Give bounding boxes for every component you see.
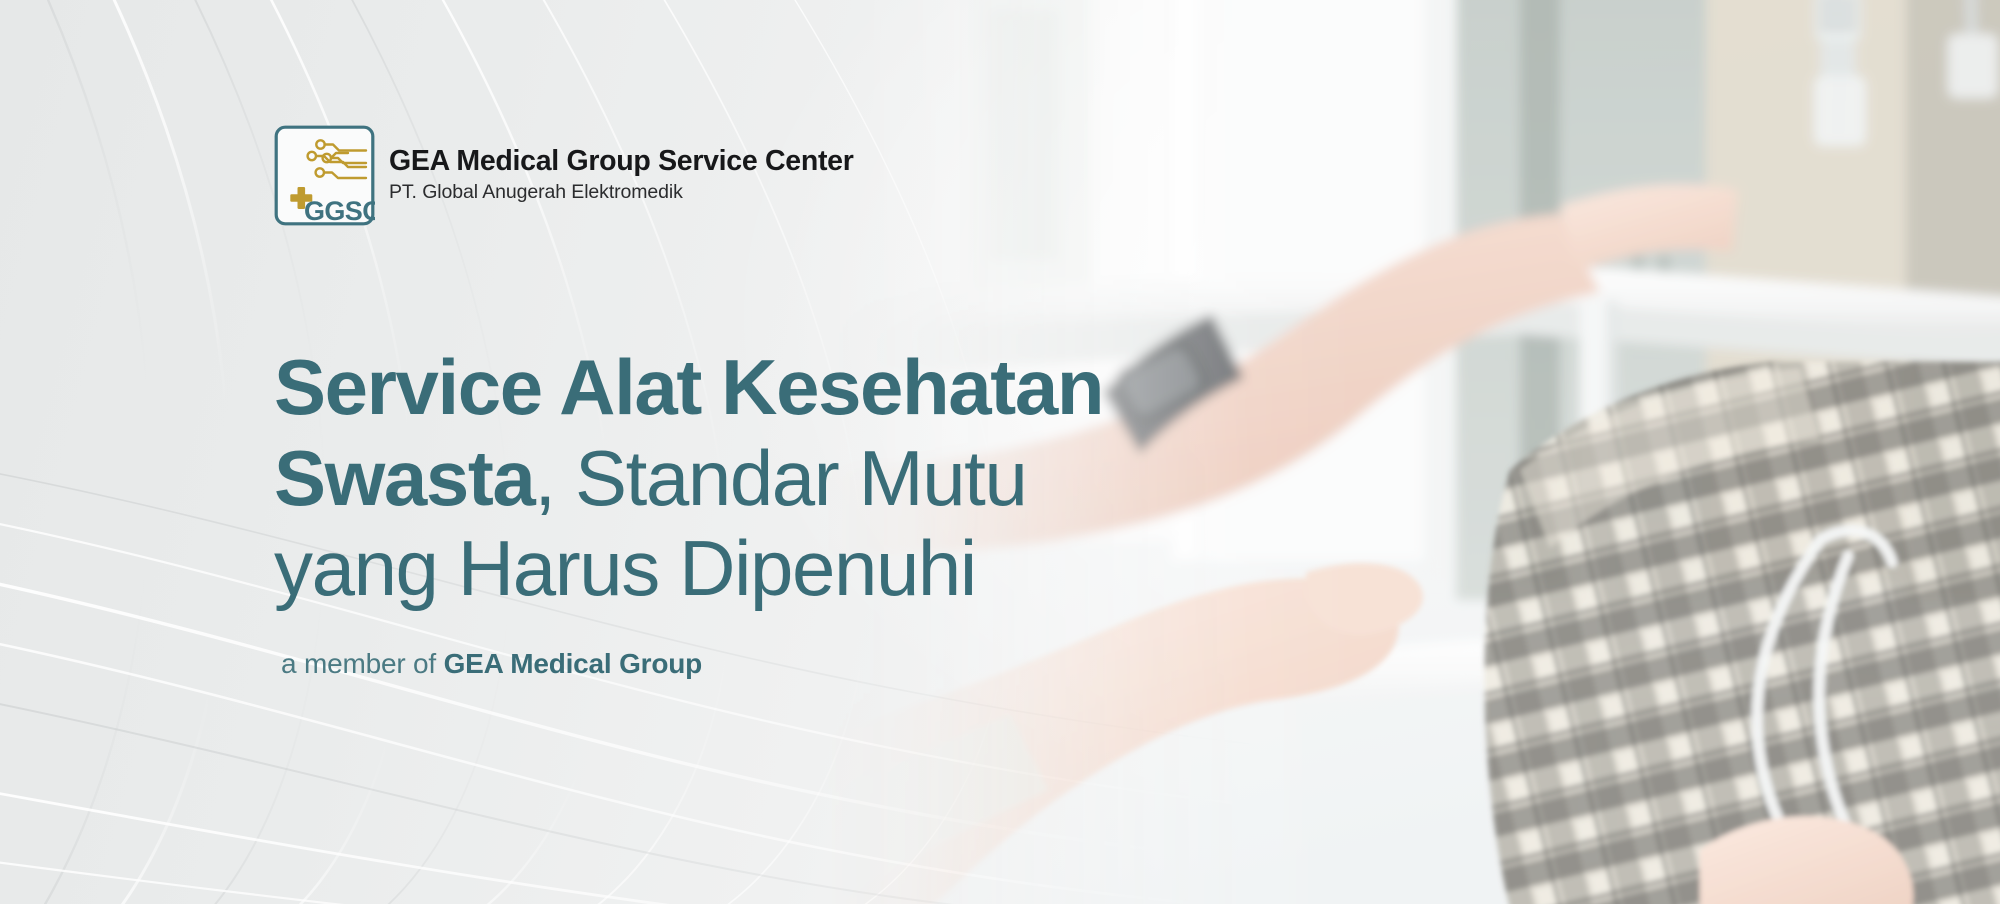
svg-text:GGSC: GGSC: [304, 196, 375, 226]
headline-line2-bold: Swasta: [274, 434, 534, 522]
headline-line-3: yang Harus Dipenuhi: [274, 523, 1274, 613]
ggsc-logo-mark: GGSC: [274, 125, 375, 226]
logo-subtitle: PT. Global Anugerah Elektromedik: [389, 181, 854, 204]
headline-line-2: Swasta, Standar Mutu: [274, 433, 1274, 523]
logo-lockup[interactable]: GGSC GEA Medical Group Service Center PT…: [274, 125, 854, 226]
hero-banner: GGSC GEA Medical Group Service Center PT…: [0, 0, 2000, 904]
headline-line1-bold: Service Alat Kesehatan: [274, 343, 1103, 431]
member-of-line: a member of GEA Medical Group: [281, 648, 702, 680]
logo-title: GEA Medical Group Service Center: [389, 146, 854, 178]
headline-line2-light: , Standar Mutu: [534, 434, 1026, 522]
headline-line-1: Service Alat Kesehatan: [274, 342, 1274, 432]
headline-line3-light: yang Harus Dipenuhi: [274, 524, 976, 612]
member-of-prefix: a member of: [281, 648, 436, 679]
member-of-brand: GEA Medical Group: [444, 648, 703, 679]
page-title: Service Alat Kesehatan Swasta, Standar M…: [274, 342, 1274, 613]
logo-text-block: GEA Medical Group Service Center PT. Glo…: [389, 146, 854, 204]
